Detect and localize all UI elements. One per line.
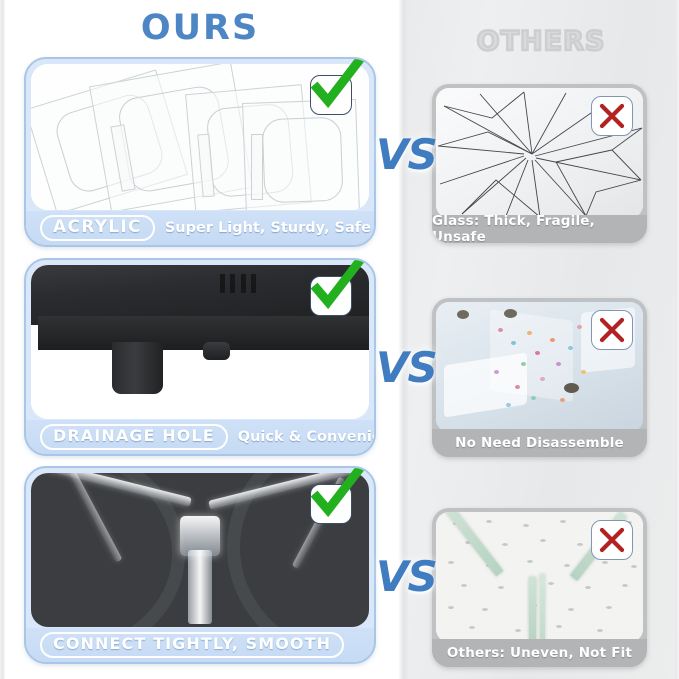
others-heading: OTHERS [403,26,679,57]
vs-label-row-2: VS [376,343,437,392]
x-icon [597,101,627,131]
check-badge [310,276,352,316]
vs-label-row-3: VS [376,552,437,601]
x-icon [597,525,627,555]
x-badge [591,96,633,136]
x-badge [591,310,633,350]
ours-caption-connect: CONNECT TIGHTLY, SMOOTH [26,628,374,662]
left-edge-shadow [0,0,5,679]
vs-label-row-1: VS [376,130,437,179]
ours-subtitle-drainage: Quick & Convenient [238,429,376,445]
ours-pill-connect: CONNECT TIGHTLY, SMOOTH [40,632,344,658]
others-card-uneven[interactable]: Others: Uneven, Not Fit [432,508,647,667]
ours-card-acrylic[interactable]: ACRYLIC Super Light, Sturdy, Safe [24,57,376,247]
ours-heading: OURS [0,8,400,48]
others-card-disassemble[interactable]: No Need Disassemble [432,298,647,457]
ours-pill-acrylic: ACRYLIC [40,215,155,242]
right-edge-shadow [675,0,679,679]
others-card-glass[interactable]: Glass: Thick, Fragile, Unsafe [432,84,647,243]
others-caption-disassemble: No Need Disassemble [432,429,647,457]
x-icon [597,315,627,345]
check-icon [304,467,364,527]
check-badge [310,75,352,115]
ours-card-drainage[interactable]: DRAINAGE HOLE Quick & Convenient [24,258,376,456]
ours-card-connect[interactable]: CONNECT TIGHTLY, SMOOTH [24,466,376,664]
check-badge [310,484,352,524]
ours-subtitle-acrylic: Super Light, Sturdy, Safe [165,220,371,236]
ours-pill-drainage: DRAINAGE HOLE [40,424,228,450]
others-caption-uneven: Others: Uneven, Not Fit [432,639,647,667]
comparison-infographic: OURS OTHERS ACRYLIC Super Light, Sturdy,… [0,0,679,679]
x-badge [591,520,633,560]
check-icon [304,58,364,118]
ours-caption-acrylic: ACRYLIC Super Light, Sturdy, Safe [26,211,374,245]
ours-caption-drainage: DRAINAGE HOLE Quick & Convenient [26,420,374,454]
others-caption-glass: Glass: Thick, Fragile, Unsafe [432,215,647,243]
check-icon [304,259,364,319]
